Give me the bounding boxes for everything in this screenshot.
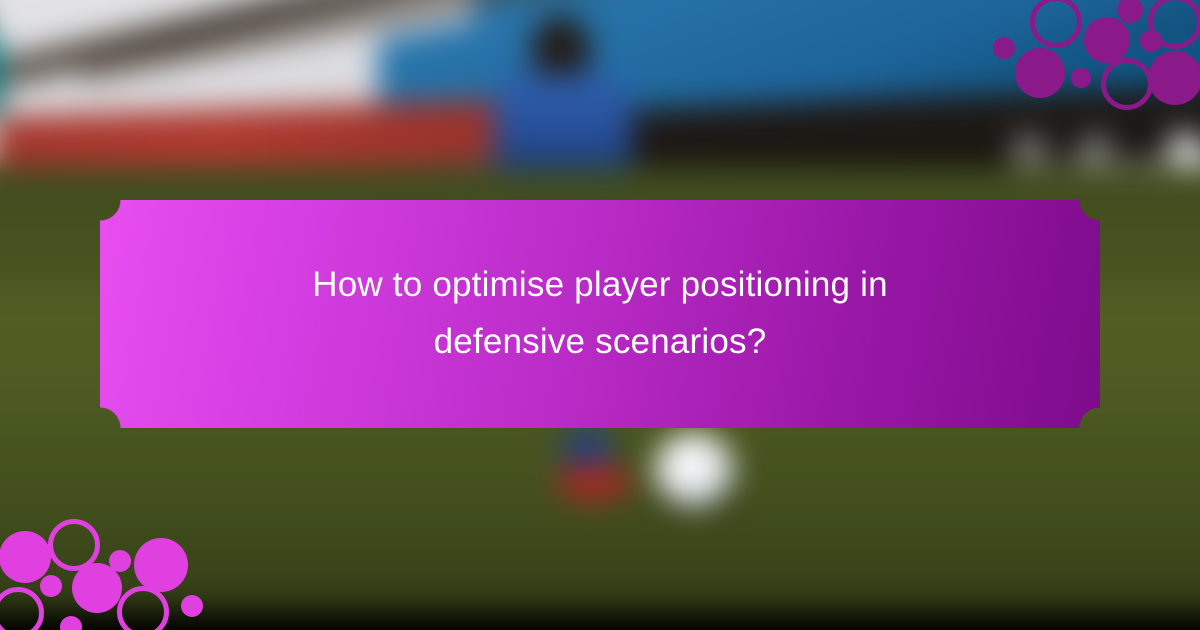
decoration-dot-filled xyxy=(1084,17,1130,63)
football-ball xyxy=(655,433,733,507)
decoration-dot-ring xyxy=(1101,58,1153,110)
decoration-dot-filled xyxy=(1140,30,1162,52)
decoration-dot-filled xyxy=(181,595,203,617)
decoration-dot-filled xyxy=(40,575,62,597)
decoration-dot-ring xyxy=(117,586,169,630)
decoration-dot-filled xyxy=(134,538,188,592)
decoration-dot-filled xyxy=(72,563,122,613)
headline-text: How to optimise player positioning in de… xyxy=(270,257,930,370)
headline-banner: How to optimise player positioning in de… xyxy=(100,200,1100,428)
decoration-dot-filled xyxy=(1015,48,1065,98)
decoration-dot-filled xyxy=(993,37,1015,59)
spectator-torso xyxy=(0,32,2,121)
decoration-dot-filled xyxy=(1148,51,1200,105)
decoration-dot-filled xyxy=(1071,68,1091,88)
player-boot-red xyxy=(558,463,632,501)
share-card: N M How to optimise player positioning i… xyxy=(0,0,1200,630)
decoration-dot-filled xyxy=(0,531,51,583)
player-torso xyxy=(494,74,632,169)
